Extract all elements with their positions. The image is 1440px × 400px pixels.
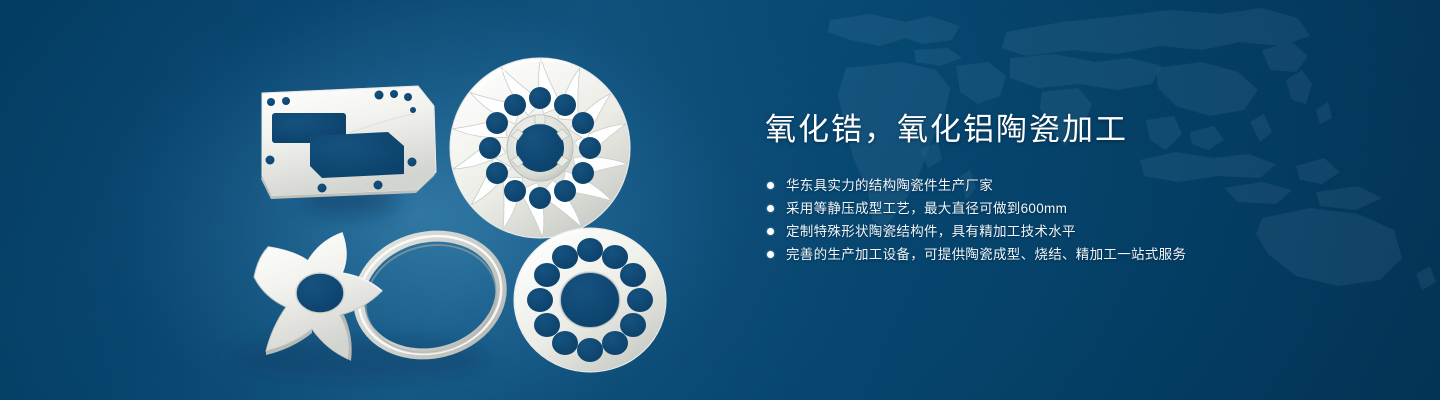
list-item-label: 完善的生产加工设备，可提供陶瓷成型、烧结、精加工一站式服务	[786, 243, 1186, 266]
list-item: 采用等静压成型工艺，最大直径可做到600mm	[767, 197, 1325, 220]
bullet-dot-icon	[767, 182, 774, 189]
list-item: 完善的生产加工设备，可提供陶瓷成型、烧结、精加工一站式服务	[767, 243, 1325, 266]
hero-banner: 氧化锆，氧化铝陶瓷加工 华东具实力的结构陶瓷件生产厂家 采用等静压成型工艺，最大…	[0, 0, 1440, 400]
list-item-label: 定制特殊形状陶瓷结构件，具有精加工技术水平	[786, 220, 1076, 243]
bullet-dot-icon	[767, 228, 774, 235]
list-item-label: 采用等静压成型工艺，最大直径可做到600mm	[786, 197, 1067, 220]
list-item: 华东具实力的结构陶瓷件生产厂家	[767, 174, 1325, 197]
feature-list: 华东具实力的结构陶瓷件生产厂家 采用等静压成型工艺，最大直径可做到600mm 定…	[765, 174, 1325, 266]
page-title: 氧化锆，氧化铝陶瓷加工	[765, 110, 1325, 150]
bullet-dot-icon	[767, 251, 774, 258]
list-item-label: 华东具实力的结构陶瓷件生产厂家	[786, 174, 993, 197]
banner-text-block: 氧化锆，氧化铝陶瓷加工 华东具实力的结构陶瓷件生产厂家 采用等静压成型工艺，最大…	[765, 110, 1325, 266]
list-item: 定制特殊形状陶瓷结构件，具有精加工技术水平	[767, 220, 1325, 243]
bullet-dot-icon	[767, 205, 774, 212]
